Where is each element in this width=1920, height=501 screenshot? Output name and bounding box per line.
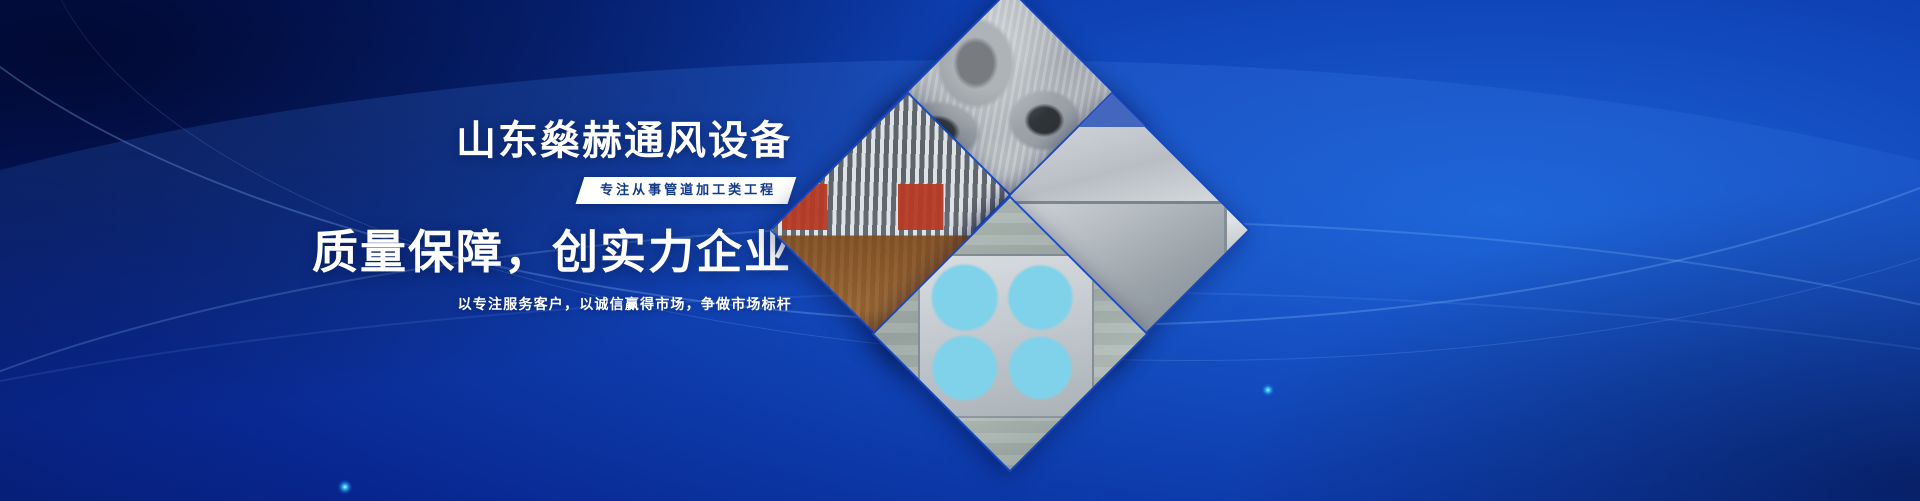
ribbon-row: 专注从事管道加工类工程 <box>0 177 792 204</box>
diamond-photo-collage <box>800 22 1270 392</box>
brand-title: 山东燊赫通风设备 <box>0 118 792 165</box>
banner-copy: 山东燊赫通风设备 专注从事管道加工类工程 质量保障，创实力企业 以专注服务客户，… <box>0 118 792 314</box>
hero-banner: 山东燊赫通风设备 专注从事管道加工类工程 质量保障，创实力企业 以专注服务客户，… <box>0 0 1920 501</box>
headline: 质量保障，创实力企业 <box>0 226 792 279</box>
glow-dot-grid <box>338 480 352 494</box>
tagline: 以专注服务客户，以诚信赢得市场，争做市场标杆 <box>0 295 792 315</box>
subtitle-ribbon: 专注从事管道加工类工程 <box>576 177 797 204</box>
subtitle-ribbon-label: 专注从事管道加工类工程 <box>600 182 776 198</box>
